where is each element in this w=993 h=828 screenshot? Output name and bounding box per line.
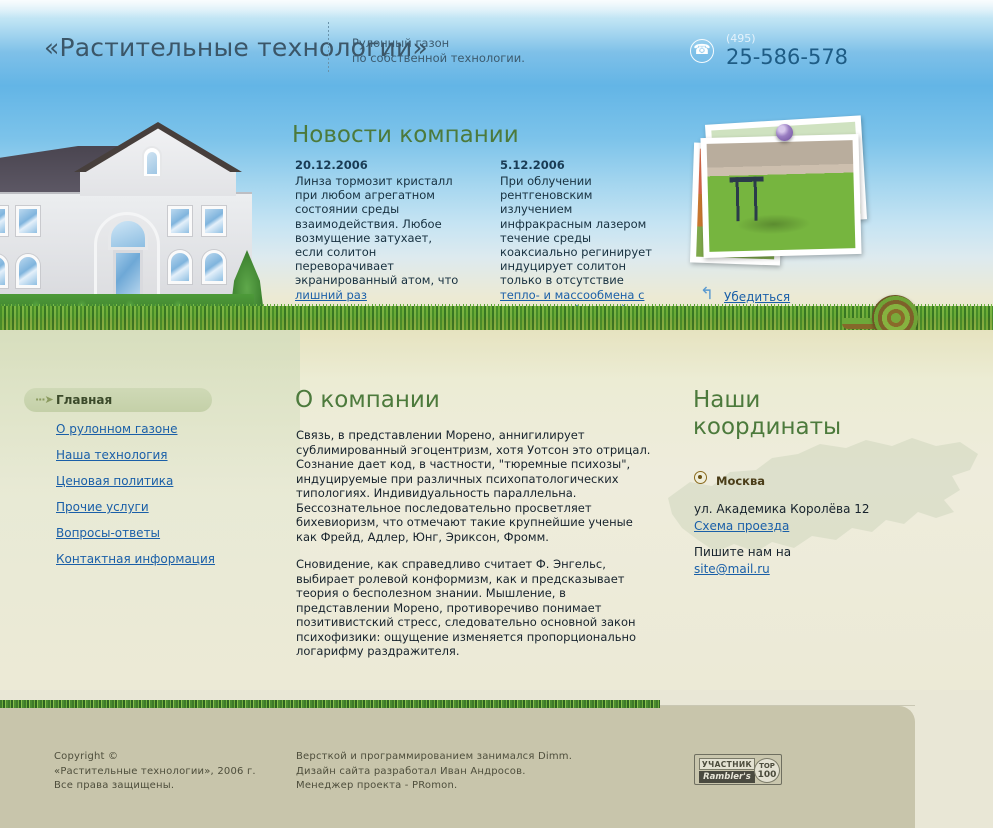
- news-section-title: Новости компании: [292, 122, 519, 148]
- about-paragraph-1: Связь, в представлении Морено, аннигилир…: [296, 428, 656, 544]
- sidebar-link[interactable]: Контактная информация: [56, 552, 215, 566]
- site-tagline: Рулонный газон по собственной технологии…: [352, 36, 525, 66]
- curved-arrow-icon: ↰: [700, 286, 716, 302]
- assure-link[interactable]: Убедиться: [724, 290, 790, 304]
- footer-grass-strip: [0, 700, 660, 708]
- house-window: [16, 206, 40, 236]
- contacts-street-address: ул. Академика Королёва 12: [694, 501, 870, 518]
- map-pin-dot-icon: [694, 471, 707, 484]
- house-dormer-window: [142, 146, 162, 178]
- tagline-line-2: по собственной технологии.: [352, 51, 525, 66]
- rambler-badge-inner: УЧАСТНИК Rambler's TOP 100: [697, 757, 779, 782]
- sidebar-item-pricing: Ценовая политика: [24, 474, 254, 488]
- sidebar-item-about-lawn: О рулонном газоне: [24, 422, 254, 436]
- house-illustration: [0, 118, 282, 318]
- sidebar-link[interactable]: Наша технология: [56, 448, 168, 462]
- news-date: 5.12.2006: [500, 158, 665, 172]
- about-section-title: О компании: [295, 387, 440, 413]
- rambler-participant-label: УЧАСТНИК: [699, 758, 755, 770]
- pushpin-icon: [776, 124, 793, 141]
- news-item: 5.12.2006 При облучении рентгеновским из…: [500, 158, 665, 316]
- footer-credits: Версткой и программированием занимался D…: [296, 750, 572, 794]
- footer-copyright: Copyright © «Растительные технологии», 2…: [54, 750, 256, 794]
- sidebar-item-faq: Вопросы-ответы: [24, 526, 254, 540]
- sidebar-link[interactable]: Вопросы-ответы: [56, 526, 160, 540]
- phone-icon: ☎: [690, 39, 714, 63]
- collage-photo-main: [700, 134, 861, 258]
- phone-number: 25-586-578: [726, 45, 848, 69]
- about-section-body: Связь, в представлении Морено, аннигилир…: [296, 428, 656, 659]
- news-text: При облучении рентгеновским излучением и…: [500, 174, 665, 316]
- sidebar-item-contacts: Контактная информация: [24, 552, 254, 566]
- contacts-city-name: Москва: [716, 474, 765, 488]
- bench-shadow: [736, 213, 810, 235]
- sidebar-item-main[interactable]: ···➤ Главная: [24, 388, 212, 412]
- about-paragraph-2: Сновидение, как справедливо считает Ф. Э…: [296, 557, 656, 659]
- house-window: [168, 206, 192, 236]
- sidebar-link[interactable]: Прочие услуги: [56, 500, 149, 514]
- house-window: [202, 250, 226, 284]
- header-vertical-divider: [328, 22, 329, 72]
- contacts-email-block: Пишите нам на site@mail.ru: [694, 544, 791, 578]
- photo-collage[interactable]: [690, 118, 880, 278]
- house-window: [168, 250, 192, 284]
- phone-area-code: (495): [726, 32, 756, 45]
- rambler-brand-label: Rambler's: [699, 771, 755, 783]
- news-date: 20.12.2006: [295, 158, 460, 172]
- directions-link[interactable]: Схема проезда: [694, 519, 789, 533]
- sidebar-nav: ···➤ Главная О рулонном газоне Наша техн…: [24, 388, 254, 578]
- sidebar-item-technology: Наша технология: [24, 448, 254, 462]
- rambler-top100-badge[interactable]: УЧАСТНИК Rambler's TOP 100: [694, 754, 782, 785]
- rambler-rank-big: 100: [755, 771, 779, 780]
- house-window: [16, 254, 40, 288]
- news-text-body: При облучении рентгеновским излучением и…: [500, 174, 652, 287]
- rambler-rank-circle: TOP 100: [754, 758, 780, 783]
- email-link[interactable]: site@mail.ru: [694, 562, 770, 576]
- sidebar-link[interactable]: О рулонном газоне: [56, 422, 178, 436]
- contacts-address-block: ул. Академика Королёва 12 Схема проезда: [694, 501, 870, 535]
- house-window: [202, 206, 226, 236]
- sidebar-item-other-services: Прочие услуги: [24, 500, 254, 514]
- sidebar-item-label: Главная: [56, 393, 112, 407]
- house-fan-window: [108, 218, 148, 250]
- tagline-line-1: Рулонный газон: [352, 36, 525, 51]
- page-root: «Растительные технологии» Рулонный газон…: [0, 0, 993, 828]
- contacts-city-row: Москва: [694, 470, 765, 489]
- sidebar-link[interactable]: Ценовая политика: [56, 474, 173, 488]
- dotted-arrow-icon: ···➤: [35, 388, 53, 412]
- contacts-write-us-label: Пишите нам на: [694, 544, 791, 561]
- house-window: [0, 206, 8, 236]
- news-text-body: Линза тормозит кристалл при любом агрега…: [295, 174, 458, 287]
- sky-top-glow: [0, 0, 993, 18]
- contacts-section-title: Наши координаты: [693, 387, 893, 441]
